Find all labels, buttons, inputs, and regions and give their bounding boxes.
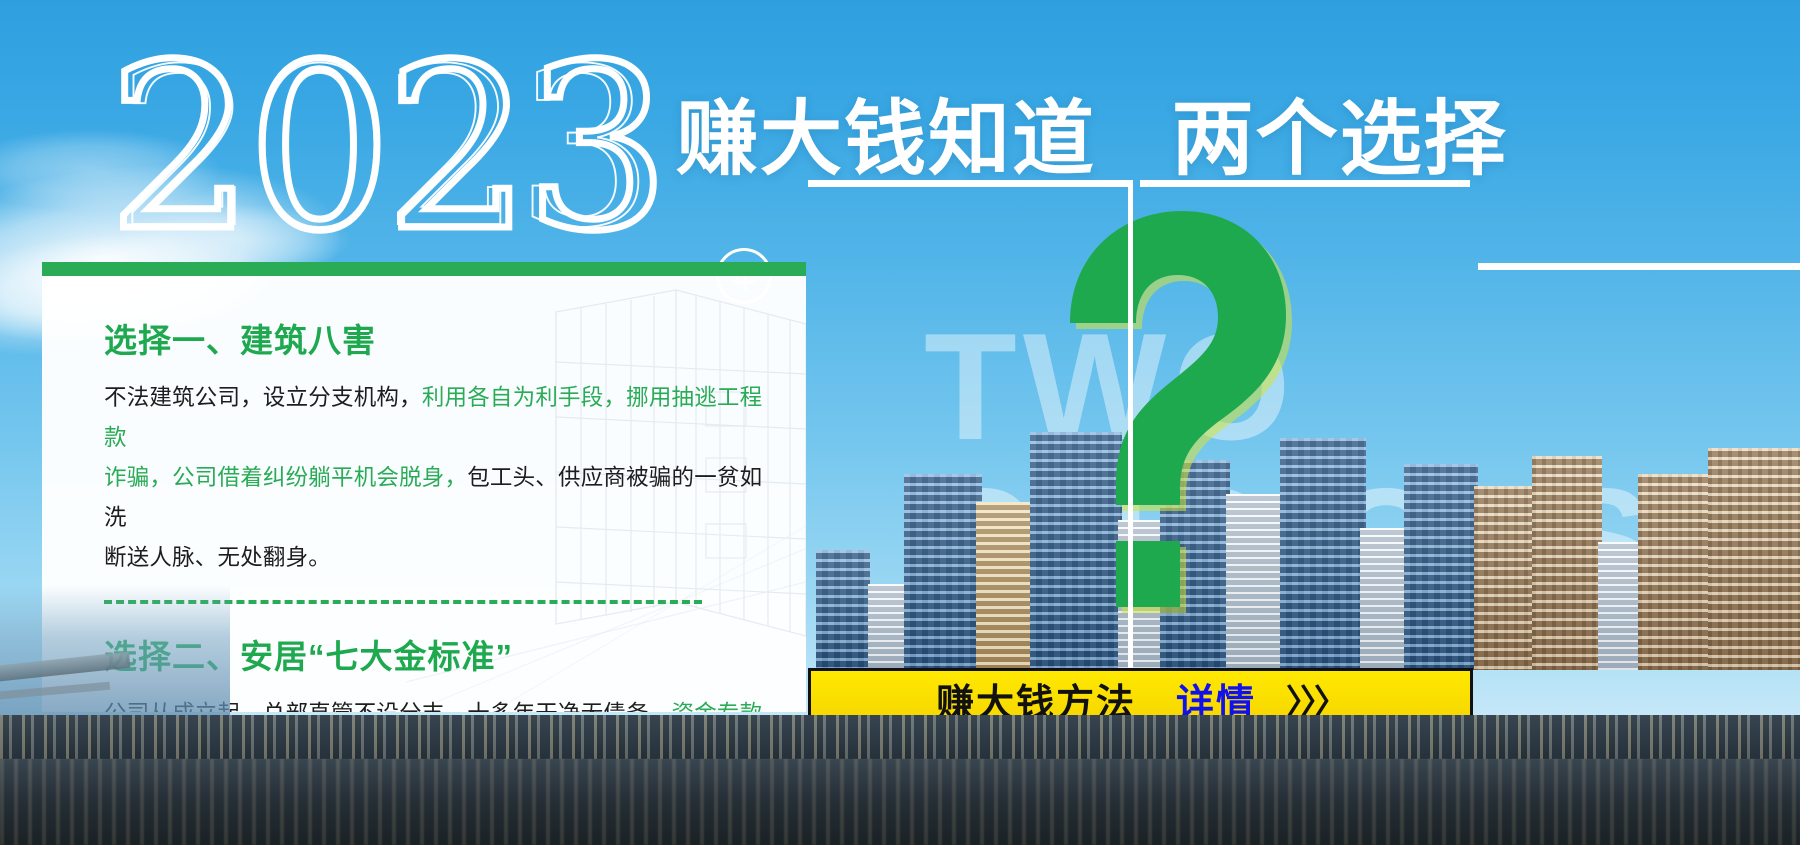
- card-section-1: 选择一、建筑八害 不法建筑公司，设立分支机构，利用各自为利手段，挪用抽逃工程款 …: [104, 314, 772, 578]
- section-1-line-1: 不法建筑公司，设立分支机构，利用各自为利手段，挪用抽逃工程款: [104, 378, 772, 458]
- headline-part-1: 赚大钱知道: [676, 94, 1096, 185]
- headline-part-2: 两个选择: [1172, 94, 1508, 185]
- section-1-line-2: 诈骗，公司借着纠纷躺平机会脱身，包工头、供应商被骗的一贫如洗: [104, 458, 772, 538]
- text-run: 断送人脉、无处翻身。: [104, 545, 331, 570]
- text-run-highlight: 诈骗，公司借着纠纷躺平机会脱身，: [104, 465, 467, 490]
- banner-stage: TWO CHOICES 2023 2023 年 赚大钱知道 两个: [0, 0, 1800, 845]
- section-1-line-3: 断送人脉、无处翻身。: [104, 538, 772, 578]
- bottom-cityscape-strip: [0, 715, 1800, 845]
- headline-rule-left: [808, 180, 1128, 187]
- page-title: 赚大钱知道 两个选择: [676, 72, 1508, 191]
- cityscape-photo: [808, 418, 1800, 670]
- vertical-divider: [1128, 180, 1133, 670]
- card-accent-bar: [42, 262, 806, 276]
- section-1-text: 不法建筑公司，设立分支机构，利用各自为利手段，挪用抽逃工程款 诈骗，公司借着纠纷…: [104, 378, 772, 578]
- section-1-title: 选择一、建筑八害: [104, 314, 772, 362]
- frame-rule-right: [1478, 263, 1800, 270]
- headline-rule-right: [1140, 180, 1470, 187]
- text-run: 不法建筑公司，设立分支机构，: [104, 385, 422, 410]
